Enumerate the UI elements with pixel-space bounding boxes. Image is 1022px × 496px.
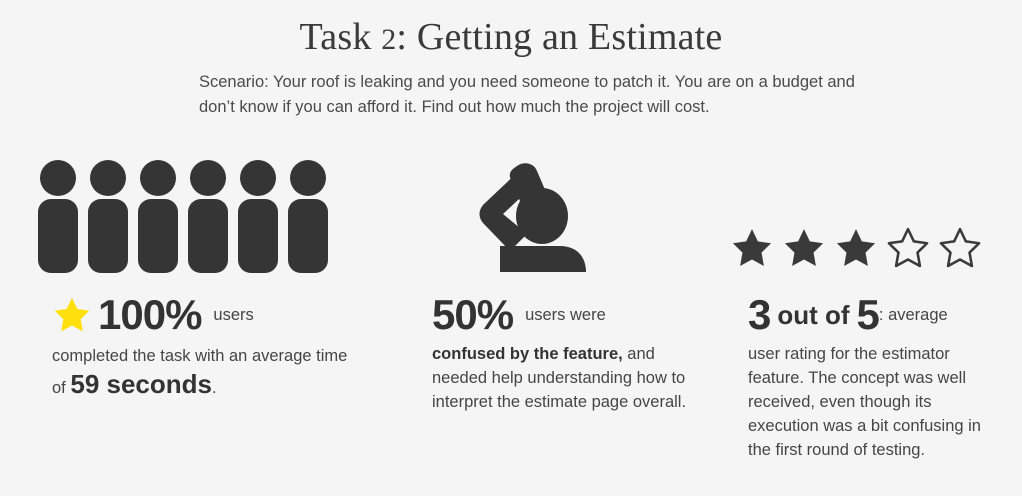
- star-filled-icon: [782, 226, 826, 270]
- stat-rating: 3 out of 5 : average user rating for the…: [748, 292, 1003, 462]
- scenario-text: Scenario: Your roof is leaking and you n…: [199, 70, 889, 120]
- person-body: [238, 199, 278, 273]
- star-outline-icon: [938, 226, 982, 270]
- person-head: [240, 160, 276, 196]
- stat-rating-description: user rating for the estimator feature. T…: [748, 342, 1003, 462]
- stat-completion-desc-highlight: 59 seconds: [70, 369, 212, 399]
- stat-confusion: 50% users were confused by the feature, …: [432, 292, 687, 414]
- person-body: [88, 199, 128, 273]
- stat-confusion-headline: 50% users were: [432, 292, 687, 338]
- person-icon: [288, 160, 328, 273]
- yellow-star-icon: [52, 295, 92, 335]
- confused-person-glyph: [470, 160, 595, 272]
- stat-completion-headline: 100% users: [52, 292, 352, 338]
- star-filled-icon: [834, 226, 878, 270]
- person-head: [290, 160, 326, 196]
- stat-rating-max: 5: [857, 292, 879, 338]
- star-rating-icon: [730, 160, 1000, 305]
- person-body: [38, 199, 78, 273]
- person-body: [138, 199, 178, 273]
- stat-completion-description: completed the task with an average time …: [52, 342, 352, 402]
- star-filled-icon: [730, 226, 774, 270]
- confused-person-icon: [432, 160, 692, 275]
- person-body: [288, 199, 328, 273]
- person-body: [188, 199, 228, 273]
- stat-rating-value: 3: [748, 292, 770, 338]
- page-title-suffix: : Getting an Estimate: [396, 16, 722, 58]
- page-title: Task 2: Getting an Estimate: [0, 14, 1022, 63]
- person-icon: [138, 160, 178, 273]
- stat-confusion-unit: users were: [525, 302, 606, 328]
- stat-rating-headline: 3 out of 5 : average: [748, 292, 1003, 338]
- column-completion-icons: [38, 160, 358, 275]
- person-icon: [88, 160, 128, 273]
- person-head: [40, 160, 76, 196]
- stat-rating-suffix: : average: [879, 302, 948, 328]
- person-icon: [238, 160, 278, 273]
- stat-completion: 100% users completed the task with an av…: [52, 292, 352, 402]
- stat-confusion-description: confused by the feature, and needed help…: [432, 342, 687, 414]
- stat-completion-unit: users: [213, 302, 253, 328]
- person-head: [90, 160, 126, 196]
- person-icon: [188, 160, 228, 273]
- column-rating-icons: [730, 160, 1000, 305]
- stat-rating-middle: out of: [777, 295, 849, 335]
- column-confusion-icons: [432, 160, 692, 275]
- stat-completion-desc-part2: .: [212, 379, 217, 397]
- six-people-icon: [38, 160, 358, 275]
- star-outline-icon: [886, 226, 930, 270]
- person-head: [190, 160, 226, 196]
- stat-confusion-value: 50%: [432, 292, 513, 338]
- infographic-page: Task 2: Getting an Estimate Scenario: Yo…: [0, 0, 1022, 496]
- person-icon: [38, 160, 78, 273]
- page-title-number: 2: [381, 23, 396, 56]
- page-title-prefix: Task: [300, 16, 372, 58]
- stat-completion-value: 100%: [98, 292, 201, 338]
- person-head: [140, 160, 176, 196]
- stat-confusion-desc-bold: confused by the feature,: [432, 345, 623, 363]
